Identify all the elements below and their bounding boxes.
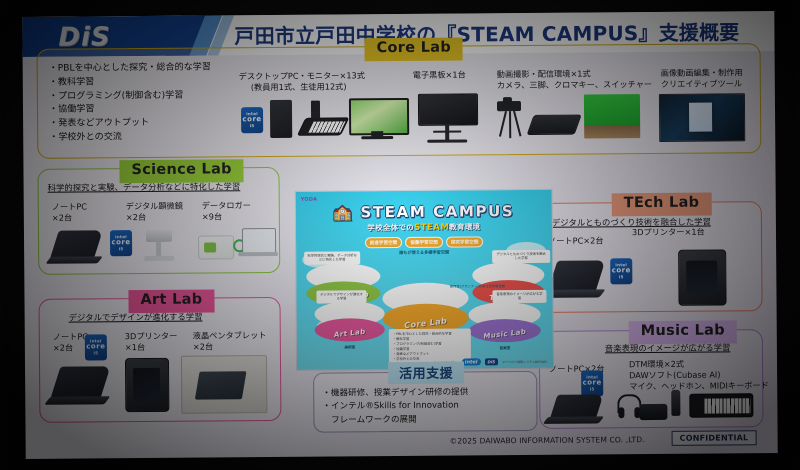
art-item-1-count: ×1台	[125, 342, 145, 353]
confidential-badge: CONFIDENTIAL	[672, 430, 757, 446]
pill-1: 協働学習空間	[405, 237, 443, 248]
camera-body	[497, 101, 521, 111]
music-lab-badge: Music Lab	[629, 320, 737, 343]
core-lab-badge: Core Lab	[364, 37, 463, 60]
intel-core-badge-tech: intelcorei5	[610, 258, 632, 284]
digital-microscope	[146, 230, 172, 242]
music-lab-island: Music Lab 音楽室	[469, 302, 541, 343]
science-item-0-count: ×2台	[52, 213, 72, 224]
intel-core-badge-art: intelcorei5	[85, 334, 107, 360]
intel-logo: intel	[462, 358, 481, 365]
pill-2: 探究学習空間	[446, 236, 484, 247]
support-bullets: ・機器研修、授業デザイン研修の提供 ・インテル®Skills for Innov…	[322, 386, 468, 427]
core-item-3-caption2: クリエイティブツール	[661, 78, 742, 90]
audio-interface	[639, 404, 667, 420]
data-logger-device	[198, 235, 234, 259]
projected-slide-photo: DiS 戸田市立戸田中学校の『STEAM CAMPUS』支援概要 Core La…	[0, 0, 800, 470]
copyright-text: ©2025 DAIWABO INFORMATION SYSTEM CO. ,LT…	[450, 435, 645, 446]
music-island-caption: 音楽室	[469, 346, 541, 352]
music-laptop-base	[543, 416, 604, 423]
school-icon: 🏫	[333, 203, 353, 221]
presentation-slide: DiS 戸田市立戸田中学校の『STEAM CAMPUS』支援概要 Core La…	[22, 11, 777, 459]
callout-music: 音楽表現のイメージが広がる学習	[492, 290, 546, 303]
desktop-pc-tower	[270, 100, 292, 138]
core-item-0-caption2: (教員用1式、生徒用12式)	[251, 81, 347, 93]
illustration-title: 🏫 STEAM CAMPUS	[296, 202, 552, 222]
art-item-1-caption: 3Dプリンター	[125, 331, 178, 342]
tech-laptop	[547, 260, 605, 292]
blackboard-stand-base	[427, 139, 467, 142]
midi-keyboard-keys	[704, 398, 751, 414]
dis-small-logo: DiS	[484, 358, 498, 365]
pen-tablet-photo	[181, 355, 267, 414]
yoda-brand-logo: YODA	[301, 197, 318, 203]
data-logger-laptop	[242, 228, 276, 254]
creative-tool-screenshot	[659, 93, 745, 142]
callout-science: 科学的探究と実験、データ分析などに特化した学習	[304, 251, 360, 264]
keyboard-keys	[309, 121, 346, 133]
illustration-title-text: STEAM CAMPUS	[360, 202, 514, 221]
subtitle-pre: 学校全体での	[367, 223, 414, 232]
tech-lab-badge: TEch Lab	[612, 193, 712, 216]
science-laptop-base	[45, 256, 102, 263]
electronic-blackboard-screen	[418, 93, 478, 125]
video-switcher	[527, 115, 582, 135]
core-item-2-caption: 動画撮影・配信環境×1式	[497, 68, 591, 80]
art-item-0-count: ×2台	[53, 343, 73, 354]
art-island-caption: 美術室	[315, 345, 385, 351]
condenser-microphone	[671, 390, 680, 416]
music-item-2-caption: DAWソフト(Cubase AI)	[629, 369, 720, 381]
art-item-0-caption: ノートPC	[53, 331, 88, 342]
core-note: 専門性(プランナー)のある各学習空間	[438, 282, 516, 291]
tech-item-0-caption: ノートPC×2台	[548, 235, 604, 246]
science-lab-badge: Science Lab	[119, 159, 244, 183]
science-item-1-count: ×2台	[126, 212, 146, 223]
tripod-leg-mid	[509, 111, 511, 138]
art-laptop-base	[44, 396, 110, 405]
monitor-base	[361, 136, 393, 139]
intel-core-badge-core: intelcorei5	[241, 107, 263, 133]
subtitle-em: STEAM	[414, 223, 449, 233]
art-lab-badge: Art Lab	[128, 289, 214, 312]
art-lab-subtitle: デジタルでデザインが進化する学習	[69, 312, 203, 324]
music-item-3-caption: マイク、ヘッドホン、MIDIキーボード	[629, 380, 769, 392]
tech-3d-printer	[678, 249, 726, 305]
support-badge: 活用支援	[388, 362, 464, 385]
science-lab-subtitle: 科学的探究と実験、データ分析などに特化した学習	[48, 181, 241, 194]
science-item-2-caption: データロガー	[202, 200, 251, 211]
learning-space-pills: 創造学習空間 協働学習空間 探究学習空間	[296, 236, 552, 249]
callout-art: デジタルでデザインが進化する学習	[316, 290, 366, 303]
speaker-pair	[311, 101, 320, 119]
art-lab-island: Art Lab 美術室	[315, 301, 385, 342]
core-item-3-caption: 画像動画編集・制作用	[661, 67, 743, 79]
midi-keyboard	[689, 393, 753, 418]
science-item-2-count: ×9台	[202, 211, 222, 222]
science-item-0-caption: ノートPC	[52, 201, 87, 212]
art-item-2-caption: 液晶ペンタブレット	[193, 330, 267, 342]
data-logger-laptop-base	[238, 252, 278, 256]
headphone-icon	[617, 394, 641, 413]
callout-tech: デジタルとものづくり技術を融合した学習	[492, 250, 550, 263]
microscope-column	[156, 242, 161, 256]
chromakey-green-screen	[584, 94, 640, 138]
music-lab-subtitle: 音楽表現のイメージが広がる学習	[605, 342, 731, 354]
music-item-1-caption: DTM環境×2式	[629, 359, 684, 370]
art-item-2-count: ×2台	[193, 341, 213, 352]
core-item-1-caption: 電子黒板×1台	[413, 69, 466, 80]
core-lab-bullets: ・PBLを中心とした探究・総合的な学習 ・教科学習 ・プログラミング(制御含む)…	[49, 61, 212, 145]
camera-lens	[503, 97, 512, 102]
subtitle-post: 教育環境	[449, 222, 480, 231]
pill-0: 創造学習空間	[365, 237, 403, 248]
steam-campus-illustration: YODA 🏫 STEAM CAMPUS 学校全体でのSTEAM教育環境 創造学習…	[295, 189, 554, 371]
art-3d-printer	[125, 358, 169, 412]
keyboard-mouse	[297, 117, 350, 135]
core-item-2-caption2: カメラ、三脚、クロマキー、スイッチャー	[497, 79, 652, 91]
intel-core-badge-science: intelcorei5	[110, 230, 132, 256]
blackboard-stand-shelf	[433, 131, 461, 133]
desktop-monitor	[349, 98, 409, 135]
tech-item-1-caption: 3Dプリンター×1台	[632, 227, 705, 239]
dis-company-name: ダイワボウ情報システム株式会社	[502, 359, 547, 363]
illustration-subtitle: 学校全体でのSTEAM教育環境	[296, 221, 552, 234]
intel-core-badge-music: intelcorei5	[581, 370, 603, 396]
microscope-base	[144, 256, 174, 261]
science-item-1-caption: デジタル顕微鏡	[126, 201, 183, 213]
